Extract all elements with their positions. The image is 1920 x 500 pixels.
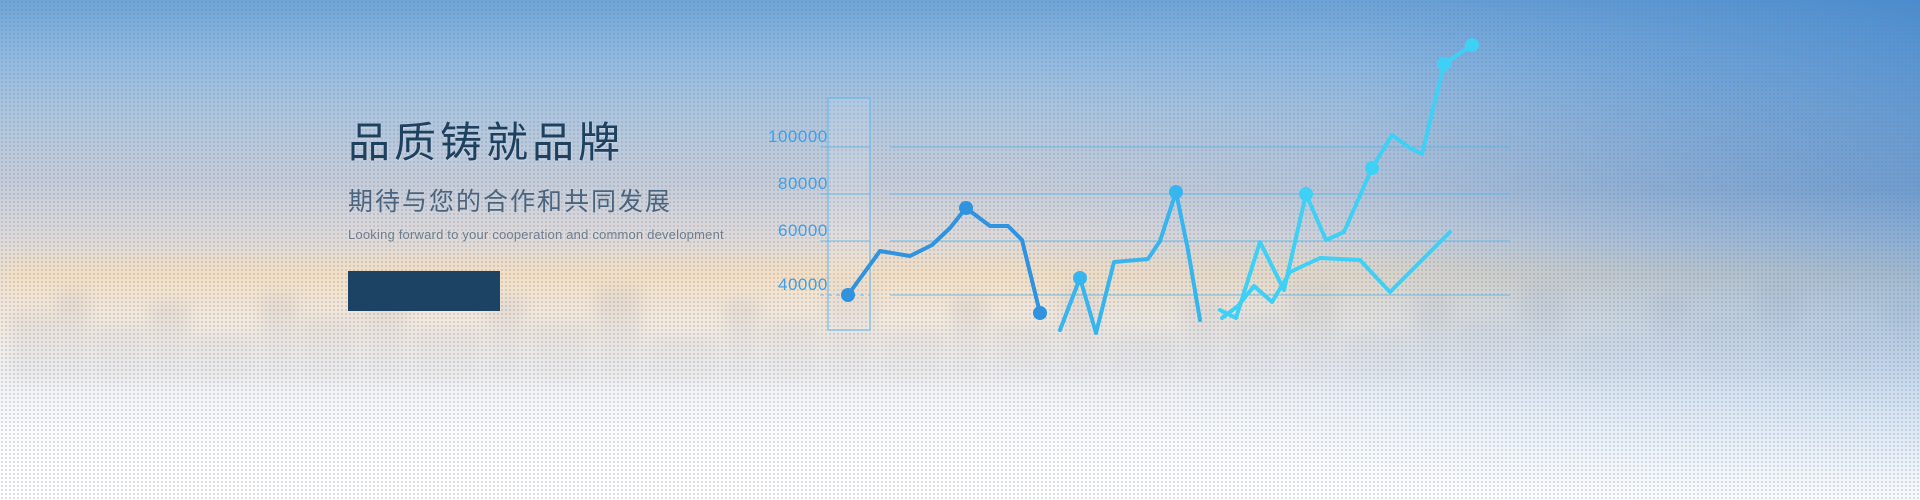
chart-series-segment-2 xyxy=(1060,192,1200,333)
chart-series-2-markers xyxy=(1073,185,1183,285)
subtitle-english: Looking forward to your cooperation and … xyxy=(348,228,768,241)
y-tick-80000: 80000 xyxy=(778,174,828,193)
chart-series-segment-4 xyxy=(1222,232,1450,318)
line-chart: 100000 80000 60000 40000 xyxy=(760,0,1920,500)
banner-copy: 品质铸就品牌 期待与您的合作和共同发展 Looking forward to y… xyxy=(348,122,768,311)
page-title: 品质铸就品牌 xyxy=(348,122,768,164)
y-tick-100000: 100000 xyxy=(768,127,828,146)
subtitle-chinese: 期待与您的合作和共同发展 xyxy=(348,190,768,215)
y-tick-40000: 40000 xyxy=(778,275,828,294)
learn-more-button[interactable] xyxy=(348,271,500,311)
y-tick-60000: 60000 xyxy=(778,221,828,240)
chart-series-segment-3 xyxy=(1220,45,1472,318)
chart-series-segment-1 xyxy=(848,208,1040,313)
chart-series-3-markers xyxy=(1299,38,1479,201)
hero-banner: 100000 80000 60000 40000 xyxy=(0,0,1920,500)
